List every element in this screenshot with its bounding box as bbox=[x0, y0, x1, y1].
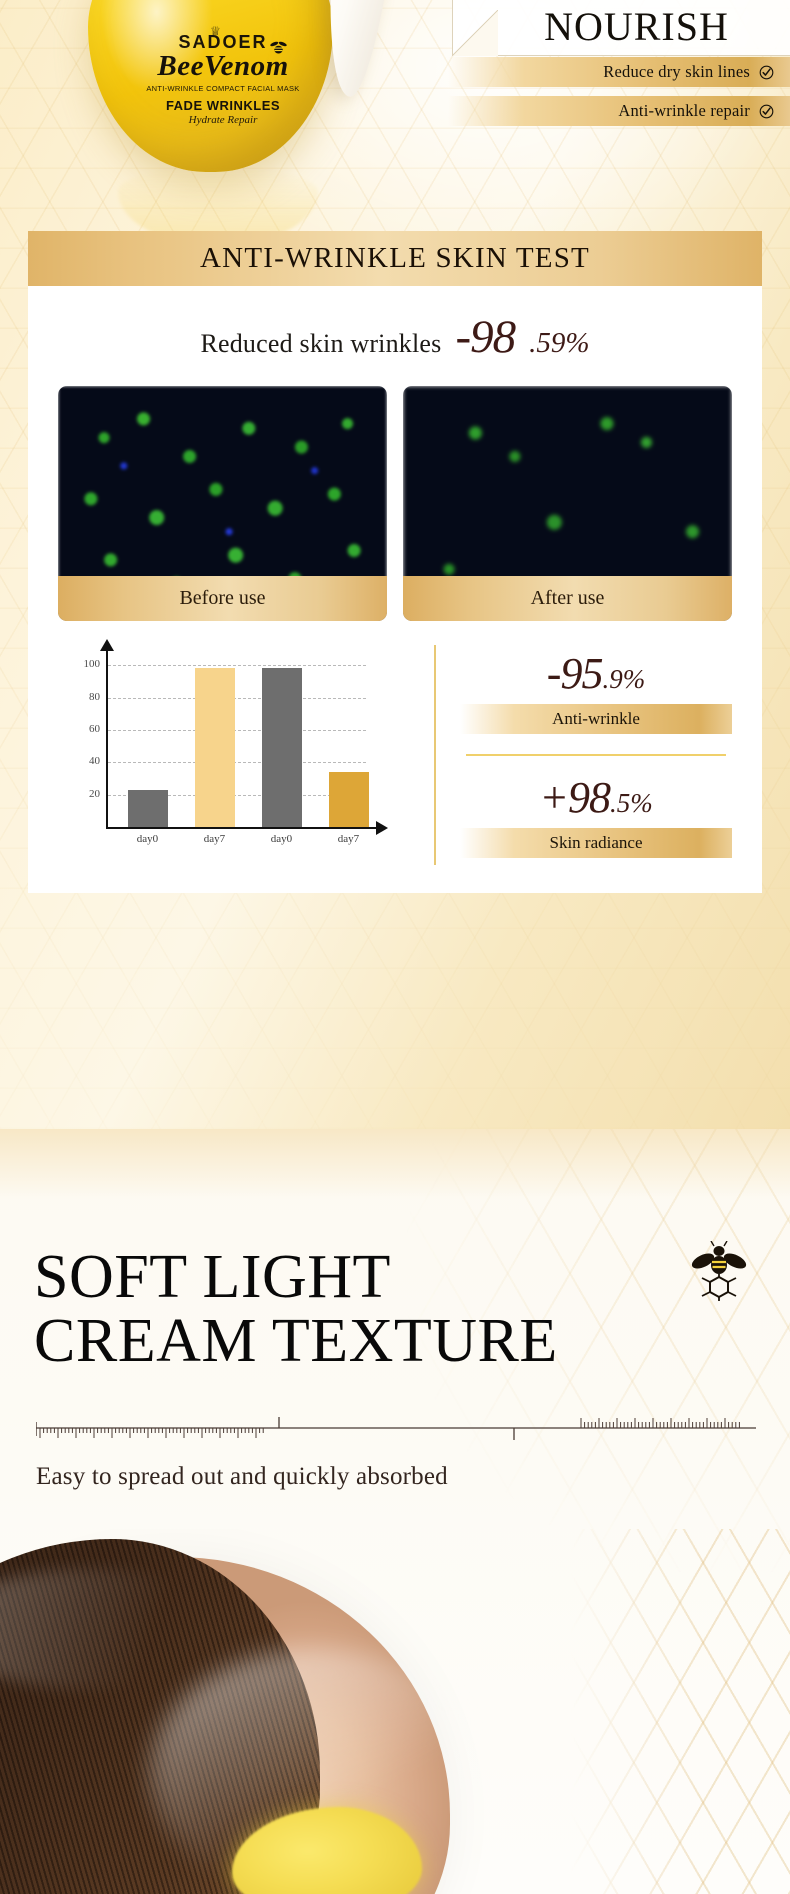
product-subtitle: ANTI-WRINKLE COMPACT FACIAL MASK bbox=[58, 84, 388, 93]
caption-text: Before use bbox=[179, 587, 265, 610]
texture-title-line1: SOFT LIGHT bbox=[34, 1246, 734, 1310]
texture-title-line2: CREAM TEXTURE bbox=[34, 1310, 734, 1374]
product-jar-image: ♕ SADOER BeeVenom ANTI-WRINKLE COMPACT F… bbox=[58, 0, 388, 212]
chart-bar bbox=[262, 668, 302, 827]
stat-label: Skin radiance bbox=[460, 828, 732, 858]
stat-label: Anti-wrinkle bbox=[460, 704, 732, 734]
micrograph-comparison: Before use After use bbox=[58, 386, 732, 621]
stat-panel: -95.9% Anti-wrinkle +98.5% Skin radiance bbox=[452, 645, 732, 865]
stat-value: +98.5% bbox=[460, 776, 732, 820]
micrograph-before: Before use bbox=[58, 386, 387, 621]
nourish-header: NOURISH bbox=[452, 0, 790, 56]
texture-title: SOFT LIGHT CREAM TEXTURE bbox=[34, 1246, 734, 1374]
nourish-card: NOURISH bbox=[452, 0, 790, 56]
stat-value: -95.9% bbox=[460, 652, 732, 696]
stat-value-dec: .5% bbox=[610, 788, 653, 818]
chart-x-axis-arrow bbox=[376, 821, 388, 835]
benefit-label: Anti-wrinkle repair bbox=[618, 101, 750, 121]
bar-chart: 20406080100 day0day7day0day7 bbox=[58, 645, 418, 865]
benefit-label: Reduce dry skin lines bbox=[603, 62, 750, 82]
skin-test-card: ANTI-WRINKLE SKIN TEST Reduced skin wrin… bbox=[28, 231, 762, 893]
check-circle-icon bbox=[759, 104, 774, 119]
x-tick-label: day0 bbox=[119, 833, 177, 845]
bee-icon bbox=[270, 40, 287, 60]
product-claim-script: Hydrate Repair bbox=[58, 114, 388, 126]
y-tick-label: 80 bbox=[66, 691, 100, 703]
y-tick-label: 40 bbox=[66, 755, 100, 767]
chart-bar bbox=[195, 668, 235, 827]
stat-value-int: +98 bbox=[539, 773, 610, 822]
x-tick-label: day7 bbox=[186, 833, 244, 845]
micrograph-before-caption: Before use bbox=[58, 576, 387, 621]
x-tick-label: day7 bbox=[320, 833, 378, 845]
benefit-item-1: Reduce dry skin lines bbox=[448, 57, 790, 87]
vertical-divider bbox=[434, 645, 436, 865]
benefit-list: Reduce dry skin lines Anti-wrinkle repai… bbox=[448, 57, 790, 135]
headline-value-decimal: .59% bbox=[529, 327, 589, 360]
chart-x-axis bbox=[106, 827, 378, 829]
headline-lead: Reduced skin wrinkles bbox=[200, 329, 441, 359]
bee-icon bbox=[690, 1241, 748, 1307]
chart-bar bbox=[329, 772, 369, 827]
y-tick-label: 60 bbox=[66, 723, 100, 735]
texture-section: SOFT LIGHT CREAM TEXTURE Easy to spread … bbox=[0, 1129, 790, 1894]
y-tick-label: 20 bbox=[66, 788, 100, 800]
model-forehead-cream-photo bbox=[0, 1529, 790, 1894]
skin-test-body: Reduced skin wrinkles -98 .59% Before us… bbox=[28, 286, 762, 893]
check-circle-icon bbox=[759, 65, 774, 80]
skin-test-title: ANTI-WRINKLE SKIN TEST bbox=[200, 242, 590, 275]
skin-test-headline: Reduced skin wrinkles -98 .59% bbox=[58, 310, 732, 364]
results-row: 20406080100 day0day7day0day7 -95.9% Anti… bbox=[58, 645, 732, 865]
ruler-scale-icon bbox=[36, 1411, 756, 1445]
benefit-item-2: Anti-wrinkle repair bbox=[448, 96, 790, 126]
headline-value: -98 bbox=[455, 310, 515, 364]
chart-bars bbox=[108, 649, 376, 827]
y-tick-label: 100 bbox=[66, 658, 100, 670]
product-claim: FADE WRINKLES bbox=[58, 98, 388, 113]
texture-caption: Easy to spread out and quickly absorbed bbox=[36, 1463, 448, 1491]
micrograph-after-caption: After use bbox=[403, 576, 732, 621]
chart-bar bbox=[128, 790, 168, 827]
stat-anti-wrinkle: -95.9% Anti-wrinkle bbox=[460, 652, 732, 734]
skin-test-banner: ANTI-WRINKLE SKIN TEST bbox=[28, 231, 762, 286]
stat-value-int: -95 bbox=[547, 649, 603, 698]
stat-skin-radiance: +98.5% Skin radiance bbox=[460, 776, 732, 858]
honeycomb-overlay bbox=[570, 1529, 790, 1894]
caption-text: After use bbox=[531, 587, 605, 610]
nourish-title: NOURISH bbox=[493, 7, 780, 47]
stat-divider bbox=[466, 754, 726, 756]
stat-value-dec: .9% bbox=[602, 664, 645, 694]
micrograph-after: After use bbox=[403, 386, 732, 621]
x-tick-label: day0 bbox=[253, 833, 311, 845]
